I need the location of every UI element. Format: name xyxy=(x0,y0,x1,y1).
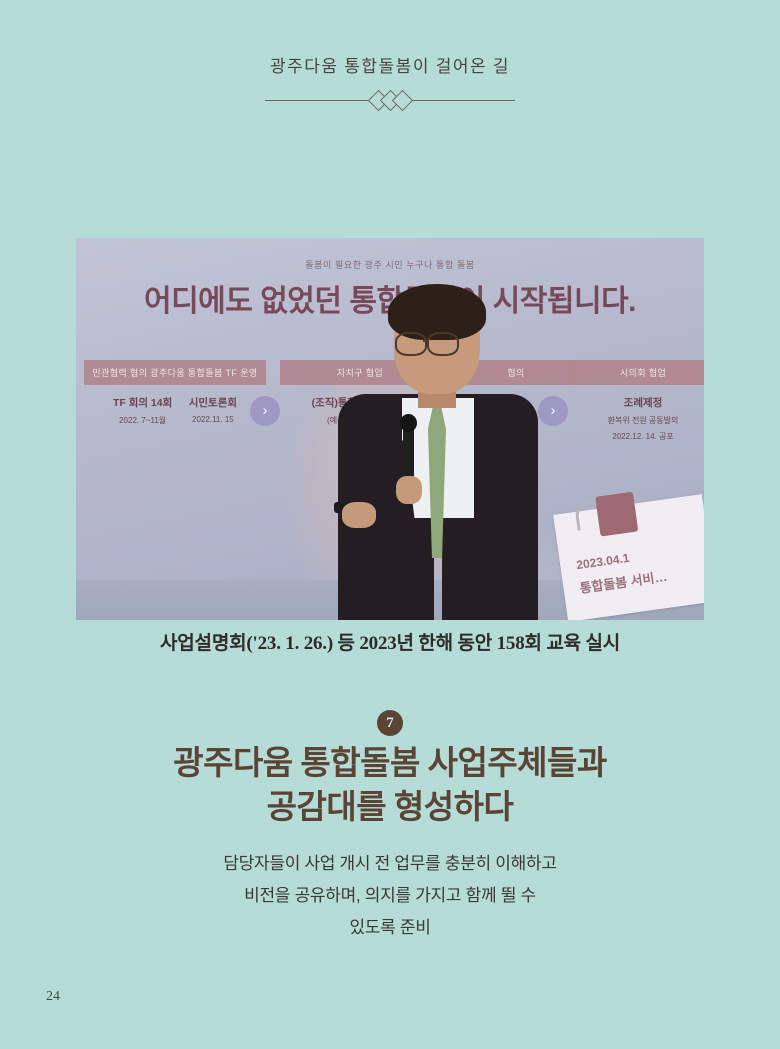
slide-item-title: TF 회의 14회 xyxy=(113,395,172,410)
slide-column-bar: 민관협력 협의 광주다움 통합돌봄 TF 운영 xyxy=(84,360,266,385)
slide-item-sub: 환복위 전원 공동발의 xyxy=(568,415,704,426)
decorative-divider xyxy=(265,90,515,110)
section-body-line-2: 비전을 공유하며, 의지를 가지고 함께 뛸 수 xyxy=(0,880,780,912)
note-text: 통합돌봄 서비… xyxy=(578,566,668,597)
section-body: 담당자들이 사업 개시 전 업무를 충분히 이해하고 비전을 공유하며, 의지를… xyxy=(0,848,780,944)
slide-item-sub: 2022. 7~11월 xyxy=(113,415,172,426)
photo-caption: 사업설명회('23. 1. 26.) 등 2023년 한해 동안 158회 교육… xyxy=(0,628,780,655)
slide-column-bar: 시의회 협업 xyxy=(568,360,704,385)
section-title: 광주다움 통합돌봄 사업주체들과 공감대를 형성하다 xyxy=(0,742,780,830)
note-card: 2023.04.1 통합돌봄 서비… xyxy=(553,494,704,620)
slide-item-title: 조례제정 xyxy=(568,395,704,410)
slide-column-item: 시민토론회 2022.11. 15 xyxy=(189,395,237,424)
section-title-line-2: 공감대를 형성하다 xyxy=(0,786,780,830)
presentation-photo: 돌봄이 필요한 광주 시민 누구나 통합 돌봄 어디에도 없었던 통합돌봄이 시… xyxy=(76,238,704,620)
binder-clip-icon xyxy=(595,492,638,537)
slide-column: 민관협력 협의 광주다움 통합돌봄 TF 운영 TF 회의 14회 2022. … xyxy=(84,360,266,426)
slide-column-body: 조례제정 환복위 전원 공동발의 2022.12. 14. 공포 xyxy=(568,395,704,442)
hand-holding-remote xyxy=(342,502,376,528)
chevron-right-icon: › xyxy=(250,396,280,426)
section-body-line-3: 있도록 준비 xyxy=(0,912,780,944)
microphone-head xyxy=(400,414,417,432)
running-head: 광주다움 통합돌봄이 걸어온 길 xyxy=(0,52,780,110)
note-date: 2023.04.1 xyxy=(575,551,630,572)
glasses-icon xyxy=(427,332,459,356)
section-number-badge: 7 xyxy=(377,710,403,736)
slide-column: 시의회 협업 조례제정 환복위 전원 공동발의 2022.12. 14. 공포 xyxy=(568,360,704,442)
glasses-icon xyxy=(395,332,427,356)
running-head-text: 광주다움 통합돌봄이 걸어온 길 xyxy=(0,52,780,77)
section-body-line-1: 담당자들이 사업 개시 전 업무를 충분히 이해하고 xyxy=(0,848,780,880)
slide-item-sub: 2022.11. 15 xyxy=(189,415,237,424)
speaker-figure xyxy=(332,290,562,620)
hand-holding-microphone xyxy=(396,476,422,504)
slide-eyebrow-text: 돌봄이 필요한 광주 시민 누구나 통합 돌봄 xyxy=(76,258,704,271)
divider-diamond-group xyxy=(370,90,410,111)
page-number: 24 xyxy=(46,989,60,1005)
glasses-bridge xyxy=(423,340,429,342)
slide-item-title: 시민토론회 xyxy=(189,395,237,410)
slide-column-item: TF 회의 14회 2022. 7~11월 xyxy=(113,395,172,426)
section-title-line-1: 광주다움 통합돌봄 사업주체들과 xyxy=(0,742,780,786)
slide-column-body: TF 회의 14회 2022. 7~11월 시민토론회 2022.11. 15 xyxy=(84,395,266,426)
slide-item-sub: 2022.12. 14. 공포 xyxy=(568,431,704,442)
